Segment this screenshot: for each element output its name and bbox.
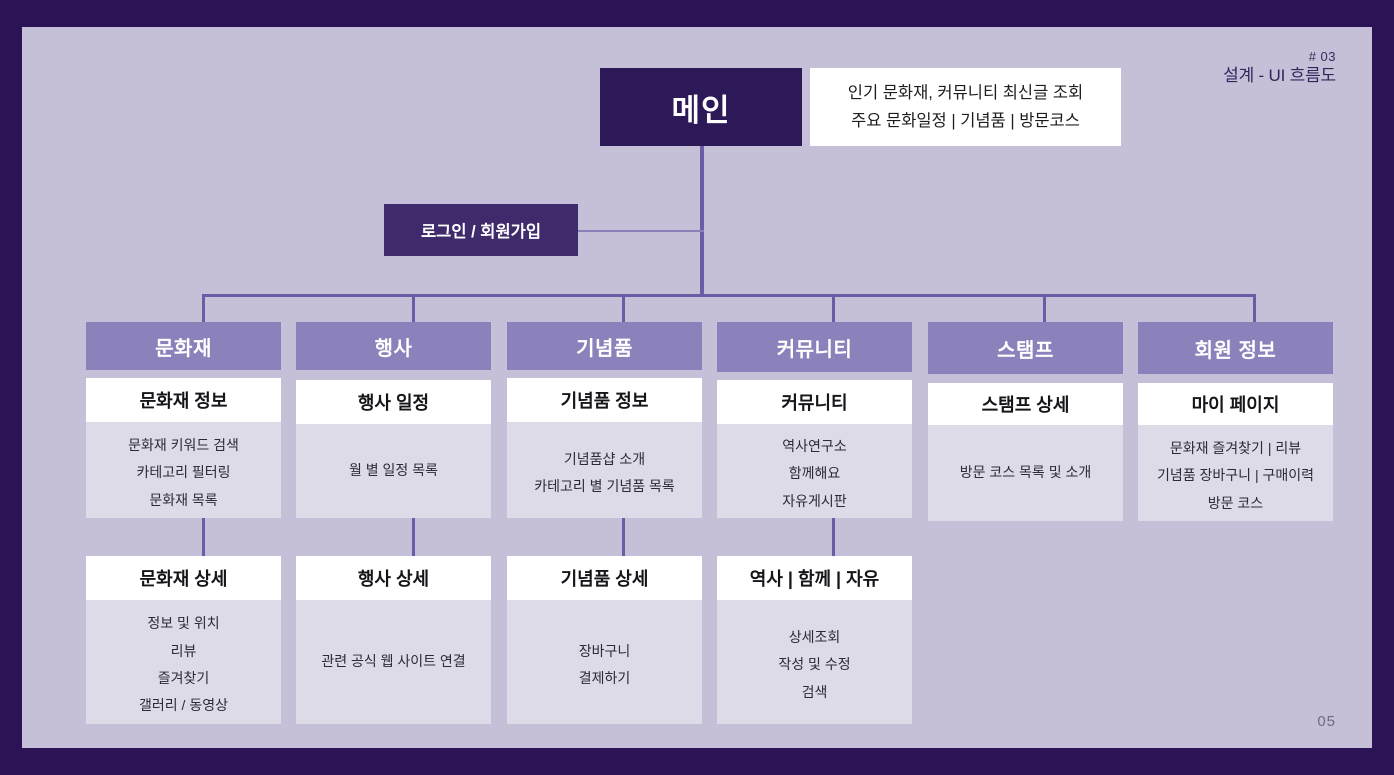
page-number: 05 [1317, 713, 1336, 730]
node-sub-head[interactable]: 스탬프 상세 [928, 383, 1123, 425]
detail-head-label: 역사 | 함께 | 자유 [750, 565, 879, 591]
detail-body-item: 리뷰 [171, 638, 197, 665]
sub-body-item: 자유게시판 [782, 488, 846, 515]
node-category-head[interactable]: 스탬프 [928, 322, 1123, 374]
sub-body-item: 함께해요 [789, 460, 841, 487]
node-main[interactable]: 메인 [600, 68, 802, 146]
node-sub-body: 월 별 일정 목록 [296, 424, 491, 518]
node-detail-body: 상세조회 작성 및 수정 검색 [717, 600, 912, 724]
sub-body-item: 월 별 일정 목록 [349, 457, 438, 484]
connector-main-trunk [700, 146, 704, 232]
detail-body-item: 정보 및 위치 [147, 610, 219, 637]
category-head-label: 행사 [375, 332, 413, 361]
connector-drop-col-1 [202, 294, 205, 322]
sub-head-label: 마이 페이지 [1192, 391, 1280, 417]
node-sub-body: 기념품샵 소개 카테고리 별 기념품 목록 [507, 422, 702, 518]
slide-header: # 03 설계 - UI 흐름도 [1223, 49, 1336, 87]
node-category-head[interactable]: 기념품 [507, 322, 702, 370]
category-head-label: 문화재 [155, 332, 212, 361]
sub-body-item: 문화재 목록 [149, 487, 217, 514]
node-detail-body: 장바구니 결제하기 [507, 600, 702, 724]
category-head-label: 기념품 [576, 332, 633, 361]
connector-sub-detail-col-1 [202, 518, 205, 556]
connector-drop-col-4 [832, 294, 835, 322]
sub-body-item: 문화재 즐겨찾기 | 리뷰 [1170, 435, 1301, 462]
node-category-head[interactable]: 행사 [296, 322, 491, 370]
detail-body-item: 검색 [802, 679, 828, 706]
slide-canvas: # 03 설계 - UI 흐름도 메인 인기 문화재, 커뮤니티 최신글 조회 … [22, 27, 1372, 748]
detail-body-item: 결제하기 [579, 665, 631, 692]
node-detail-head[interactable]: 문화재 상세 [86, 556, 281, 600]
node-sub-head[interactable]: 커뮤니티 [717, 380, 912, 424]
sub-body-item: 기념품샵 소개 [564, 446, 645, 473]
connector-drop-col-3 [622, 294, 625, 322]
node-sub-body: 문화재 키워드 검색 카테고리 필터링 문화재 목록 [86, 422, 281, 518]
node-category-head[interactable]: 문화재 [86, 322, 281, 370]
node-sub-body: 역사연구소 함께해요 자유게시판 [717, 424, 912, 518]
category-head-label: 커뮤니티 [777, 333, 853, 362]
description-line: 인기 문화재, 커뮤니티 최신글 조회 [848, 79, 1083, 107]
slide-number-tag: # 03 [1223, 49, 1336, 65]
sub-head-label: 기념품 정보 [561, 387, 649, 413]
sub-head-label: 커뮤니티 [781, 389, 847, 415]
detail-head-label: 문화재 상세 [140, 565, 228, 591]
node-detail-body: 정보 및 위치 리뷰 즐겨찾기 갤러리 / 동영상 [86, 600, 281, 724]
category-head-label: 스탬프 [997, 334, 1054, 363]
node-detail-head[interactable]: 행사 상세 [296, 556, 491, 600]
node-category-head[interactable]: 회원 정보 [1138, 322, 1333, 374]
connector-sub-detail-col-2 [412, 518, 415, 556]
sub-body-item: 방문 코스 목록 및 소개 [960, 459, 1091, 486]
connector-horizontal-bus [204, 294, 1256, 297]
node-main-description: 인기 문화재, 커뮤니티 최신글 조회 주요 문화일정 | 기념품 | 방문코스 [810, 68, 1121, 146]
connector-drop-col-6 [1253, 294, 1256, 322]
detail-body-item: 작성 및 수정 [778, 651, 850, 678]
sub-body-item: 기념품 장바구니 | 구매이력 [1157, 462, 1314, 489]
sub-head-label: 문화재 정보 [140, 387, 228, 413]
sub-body-item: 방문 코스 [1208, 490, 1263, 517]
connector-main-trunk-lower [700, 232, 704, 297]
slide-title: 설계 - UI 흐름도 [1223, 65, 1336, 86]
detail-body-item: 상세조회 [789, 624, 841, 651]
node-login-signup[interactable]: 로그인 / 회원가입 [384, 204, 578, 256]
node-detail-head[interactable]: 기념품 상세 [507, 556, 702, 600]
detail-body-item: 관련 공식 웹 사이트 연결 [321, 648, 465, 675]
node-sub-head[interactable]: 문화재 정보 [86, 378, 281, 422]
node-sub-body: 문화재 즐겨찾기 | 리뷰 기념품 장바구니 | 구매이력 방문 코스 [1138, 425, 1333, 521]
node-sub-head[interactable]: 마이 페이지 [1138, 383, 1333, 425]
connector-sub-detail-col-3 [622, 518, 625, 556]
detail-body-item: 장바구니 [579, 638, 631, 665]
sub-body-item: 카테고리 필터링 [136, 459, 230, 486]
slide-frame: # 03 설계 - UI 흐름도 메인 인기 문화재, 커뮤니티 최신글 조회 … [0, 0, 1394, 775]
node-sub-head[interactable]: 행사 일정 [296, 380, 491, 424]
sub-body-item: 카테고리 별 기념품 목록 [534, 473, 674, 500]
detail-body-item: 갤러리 / 동영상 [139, 692, 228, 719]
sub-head-label: 행사 일정 [358, 389, 429, 415]
detail-head-label: 기념품 상세 [561, 565, 649, 591]
node-main-label: 메인 [671, 85, 730, 130]
sub-body-item: 문화재 키워드 검색 [128, 432, 239, 459]
node-category-head[interactable]: 커뮤니티 [717, 322, 912, 372]
connector-drop-col-5 [1043, 294, 1046, 322]
category-head-label: 회원 정보 [1195, 334, 1277, 363]
node-detail-head[interactable]: 역사 | 함께 | 자유 [717, 556, 912, 600]
node-detail-body: 관련 공식 웹 사이트 연결 [296, 600, 491, 724]
sub-head-label: 스탬프 상세 [982, 391, 1070, 417]
node-sub-head[interactable]: 기념품 정보 [507, 378, 702, 422]
node-login-signup-label: 로그인 / 회원가입 [421, 218, 541, 242]
connector-auth-branch [578, 230, 704, 232]
detail-body-item: 즐겨찾기 [158, 665, 210, 692]
detail-head-label: 행사 상세 [358, 565, 429, 591]
node-sub-body: 방문 코스 목록 및 소개 [928, 425, 1123, 521]
connector-sub-detail-col-4 [832, 518, 835, 556]
sub-body-item: 역사연구소 [782, 433, 846, 460]
connector-drop-col-2 [412, 294, 415, 322]
description-line: 주요 문화일정 | 기념품 | 방문코스 [851, 107, 1080, 135]
